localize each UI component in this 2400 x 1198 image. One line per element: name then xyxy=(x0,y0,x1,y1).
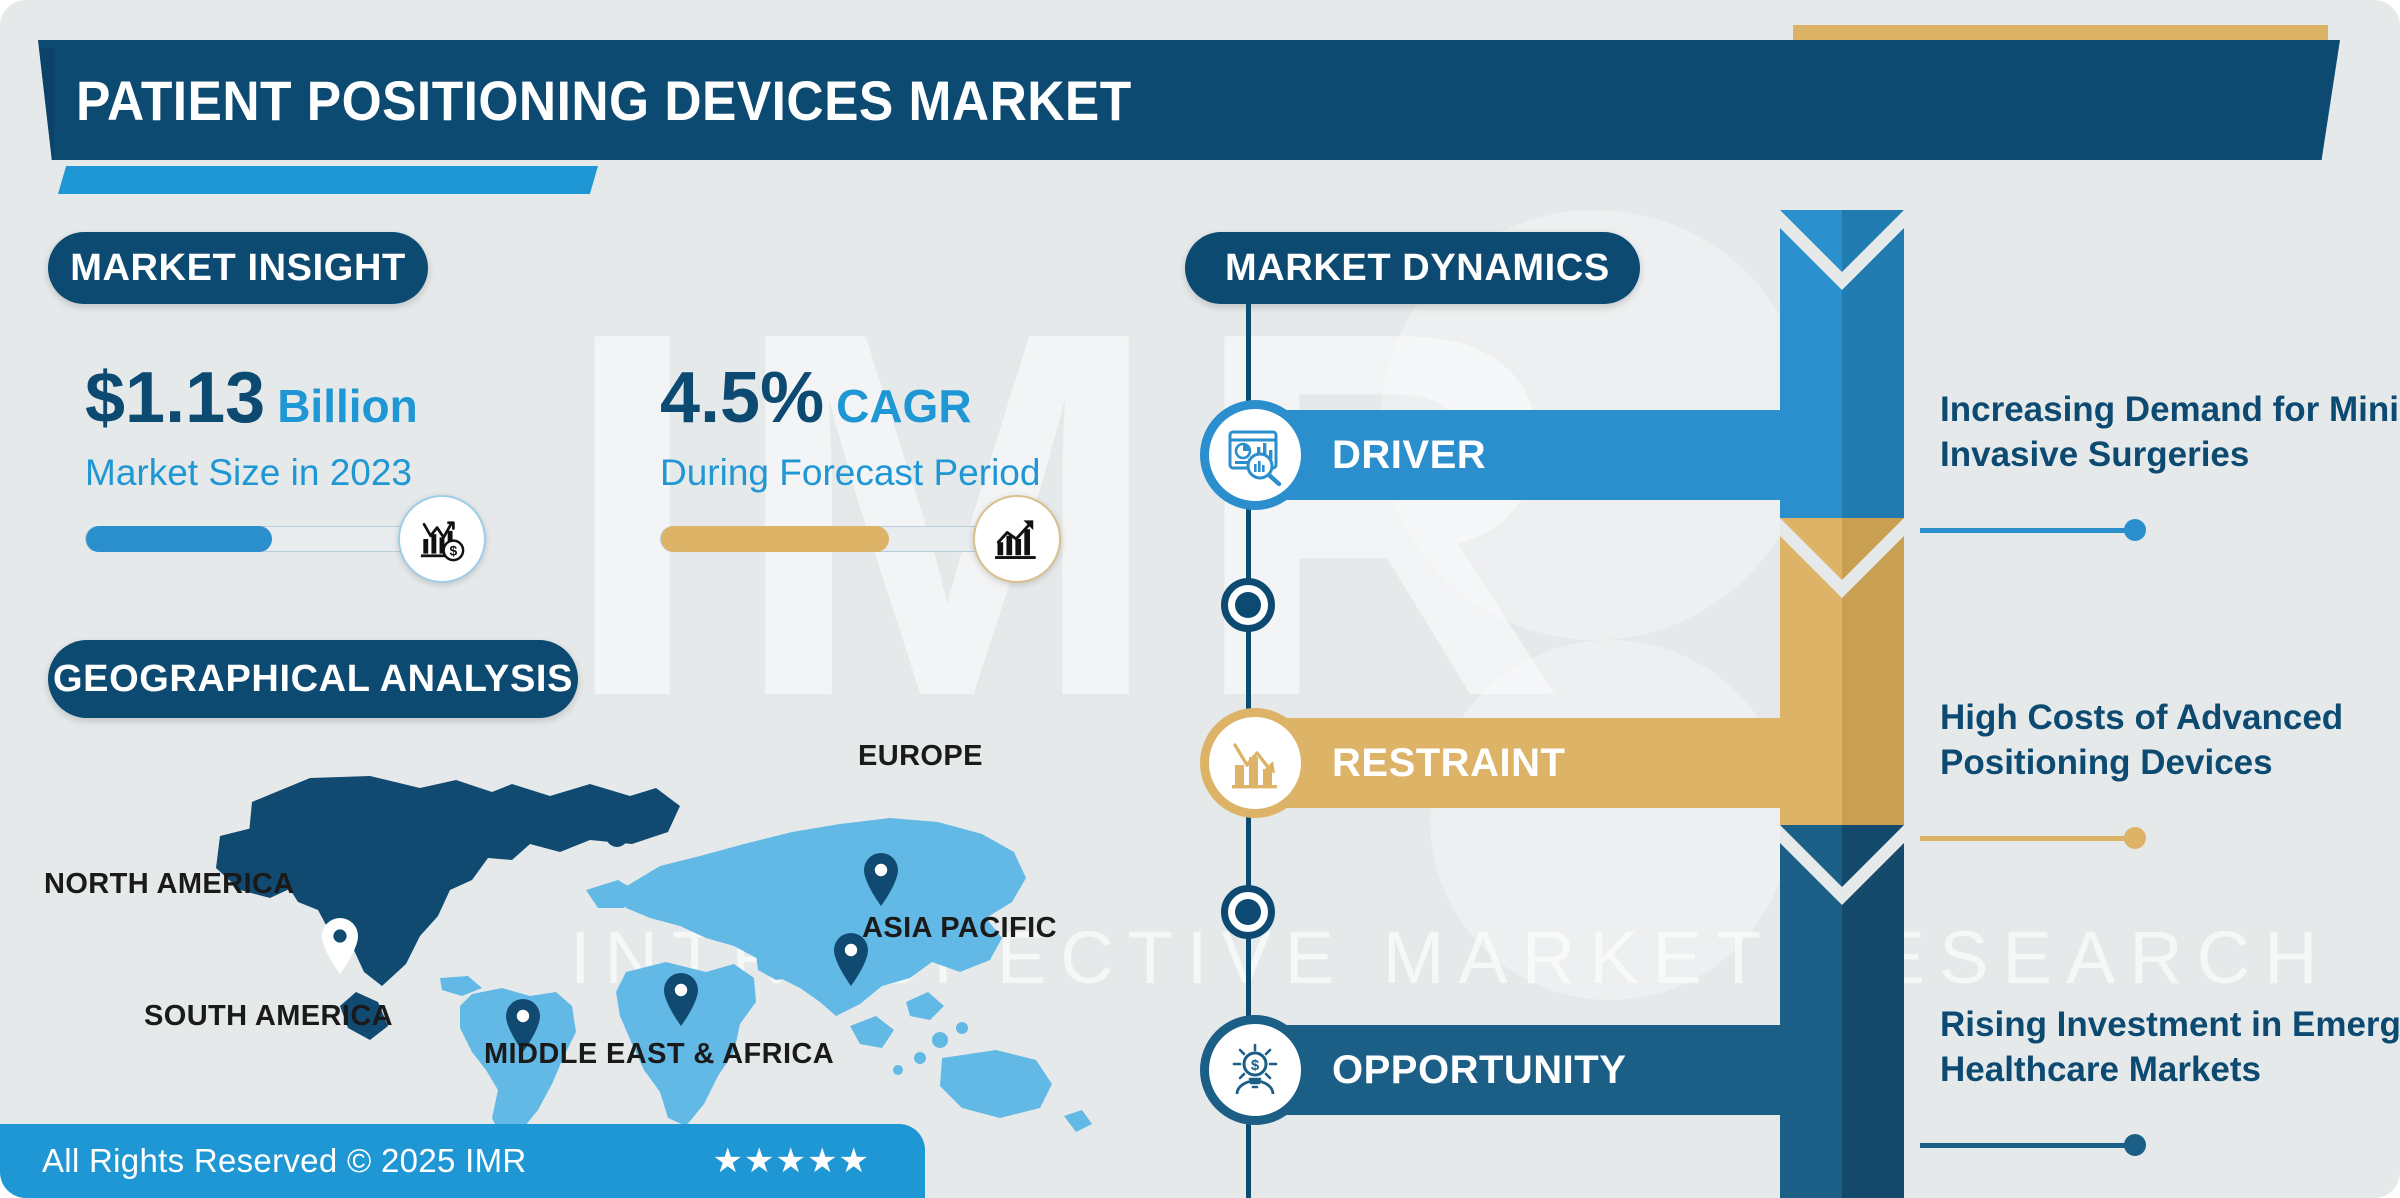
map-region-australia xyxy=(940,1050,1092,1132)
driver-description: Increasing Demand for Minimally Invasive… xyxy=(1940,388,2400,478)
opportunity-label: OPPORTUNITY xyxy=(1332,1025,1626,1115)
stat-value: $1.13 xyxy=(85,358,265,438)
declining-bar-chart-icon xyxy=(1200,708,1310,818)
stat-card-market-size: $1.13Billion Market Size in 2023 xyxy=(85,362,605,552)
copyright-text: All Rights Reserved © 2025 IMR xyxy=(42,1142,527,1180)
stat-progress-fill xyxy=(661,526,889,552)
section-heading-geographical-analysis: GEOGRAPHICAL ANALYSIS xyxy=(48,640,578,718)
bar-chart-dollar-icon: $ xyxy=(398,495,486,583)
timeline-node-1 xyxy=(1221,578,1275,632)
dynamics-item-opportunity: $ OPPORTUNITY Rising Inve xyxy=(1200,1025,2400,1115)
section-heading-market-insight: MARKET INSIGHT xyxy=(48,232,428,304)
restraint-label: RESTRAINT xyxy=(1332,718,1565,808)
opportunity-connector xyxy=(1920,1143,2130,1148)
stat-progress-track xyxy=(660,526,1008,552)
stat-headline: 4.5%CAGR xyxy=(660,362,1180,434)
stat-unit: Billion xyxy=(277,380,418,432)
dynamics-item-driver: DRIVER Increasing Demand for Minimally I… xyxy=(1200,410,2400,500)
title-banner: PATIENT POSITIONING DEVICES MARKET xyxy=(38,40,2340,160)
lightbulb-dollar-icon: $ xyxy=(1200,1015,1310,1125)
stat-headline: $1.13Billion xyxy=(85,362,605,434)
timeline-node-2 xyxy=(1221,885,1275,939)
map-label-south-america: SOUTH AMERICA xyxy=(144,1000,393,1033)
stat-caption: During Forecast Period xyxy=(660,452,1180,494)
dashboard-analytics-magnifier-icon xyxy=(1200,400,1310,510)
stat-card-cagr: 4.5%CAGR During Forecast Period xyxy=(660,362,1180,552)
opportunity-description: Rising Investment in Emerging Healthcare… xyxy=(1940,1003,2400,1093)
map-label-middle-east-africa: MIDDLE EAST & AFRICA xyxy=(484,1038,834,1071)
infographic-root: IMR INTROSPECTIVE MARKET RESEARCH PATIEN… xyxy=(0,0,2400,1198)
restraint-description: High Costs of Advanced Positioning Devic… xyxy=(1940,696,2400,786)
stat-progress-track: $ xyxy=(85,526,433,552)
title-underbar xyxy=(58,166,598,194)
stat-progress-fill xyxy=(86,526,272,552)
map-pin-icon-north-america xyxy=(322,918,358,974)
opportunity-ribbon-icon xyxy=(1780,825,1920,1198)
map-label-asia-pacific: ASIA PACIFIC xyxy=(862,912,1057,945)
map-label-north-america: NORTH AMERICA xyxy=(44,868,295,901)
star-rating-icon: ★★★★★ xyxy=(713,1141,870,1181)
map-label-europe: EUROPE xyxy=(858,740,983,773)
page-title: PATIENT POSITIONING DEVICES MARKET xyxy=(76,68,1132,133)
section-heading-market-dynamics: MARKET DYNAMICS xyxy=(1185,232,1640,304)
driver-label: DRIVER xyxy=(1332,410,1486,500)
stat-unit: CAGR xyxy=(836,380,971,432)
footer-bar: All Rights Reserved © 2025 IMR ★★★★★ xyxy=(0,1124,925,1198)
stat-value: 4.5% xyxy=(660,358,824,438)
svg-text:$: $ xyxy=(450,542,458,558)
stat-caption: Market Size in 2023 xyxy=(85,452,605,494)
svg-text:$: $ xyxy=(1251,1057,1260,1074)
restraint-connector xyxy=(1920,836,2130,841)
growth-arrow-chart-icon xyxy=(973,495,1061,583)
driver-connector xyxy=(1920,528,2130,533)
title-banner-shadow xyxy=(28,48,54,160)
dynamics-item-restraint: RESTRAINT High Costs of Advanced Positio… xyxy=(1200,718,2400,808)
